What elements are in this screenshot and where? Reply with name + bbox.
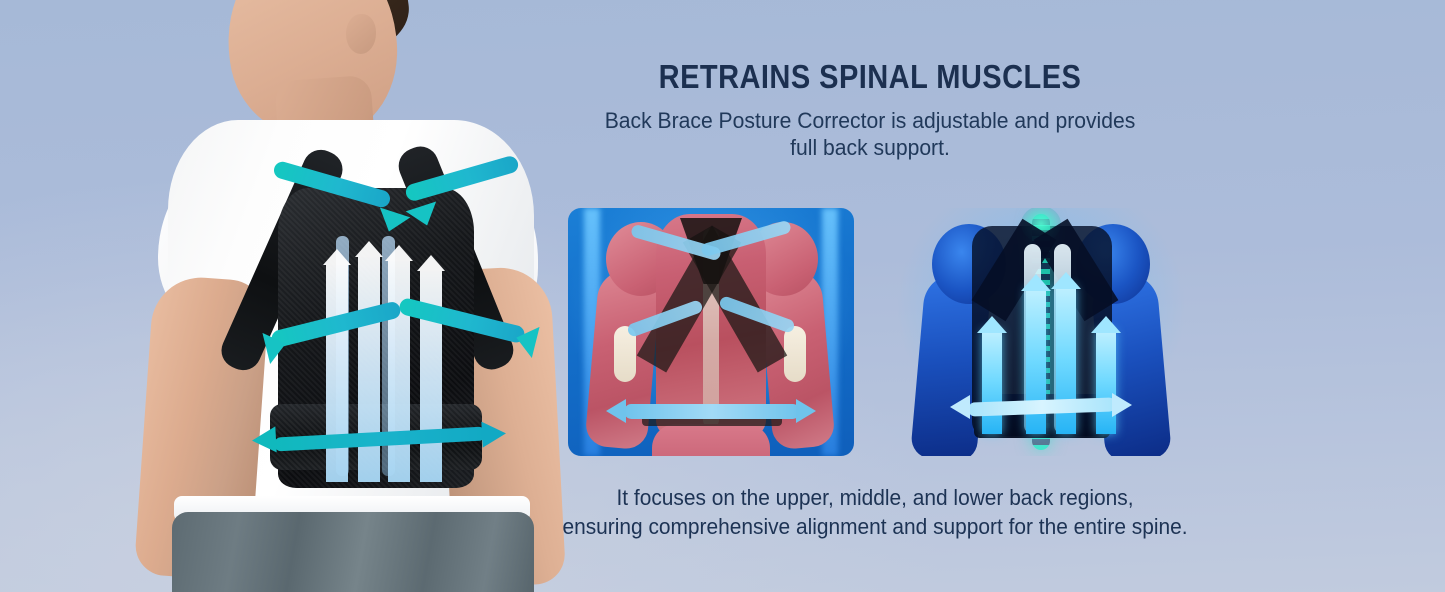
xray-spine-panel bbox=[898, 208, 1184, 456]
product-feature-banner: RETRAINS SPINAL MUSCLES Back Brace Postu… bbox=[0, 0, 1445, 592]
xray-lift-arrow-outer-left bbox=[982, 330, 1002, 434]
page-title: RETRAINS SPINAL MUSCLES bbox=[584, 58, 1156, 96]
xray-belt-arrow-head-right bbox=[1112, 393, 1132, 417]
anatomy-elbow-bone-right bbox=[784, 326, 806, 382]
lumbar-arrow-head-right bbox=[481, 420, 506, 447]
anatomy-hips bbox=[652, 424, 770, 456]
lift-arrow-icon-3 bbox=[388, 258, 410, 482]
lift-arrow-icon-1 bbox=[326, 262, 348, 482]
panel-belt-arrow bbox=[624, 404, 800, 419]
model-ear bbox=[346, 14, 376, 54]
feature-caption: It focuses on the upper, middle, and low… bbox=[452, 483, 1298, 541]
caption-line-2: ensuring comprehensive alignment and sup… bbox=[452, 512, 1298, 541]
muscle-anatomy-panel bbox=[568, 208, 854, 456]
xray-lift-arrow-outer-right bbox=[1096, 330, 1116, 434]
subheadline-line-2: full back support. bbox=[539, 134, 1201, 161]
xray-belt-arrow-head-left bbox=[950, 395, 970, 419]
panel-belt-arrow-head-right bbox=[796, 399, 816, 423]
caption-line-1: It focuses on the upper, middle, and low… bbox=[452, 483, 1298, 512]
subheadline: Back Brace Posture Corrector is adjustab… bbox=[539, 107, 1201, 161]
lumbar-arrow-head-left bbox=[251, 426, 276, 453]
lift-arrow-icon-2 bbox=[358, 254, 380, 482]
subheadline-line-1: Back Brace Posture Corrector is adjustab… bbox=[539, 107, 1201, 134]
panel-belt-arrow-head-left bbox=[606, 399, 626, 423]
lift-arrow-icon-4 bbox=[420, 268, 442, 482]
